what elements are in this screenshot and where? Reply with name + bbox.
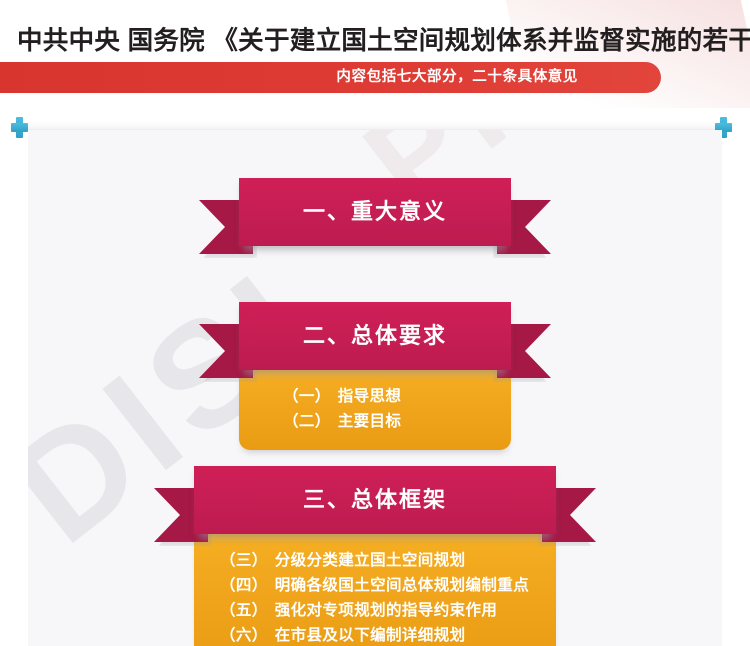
section-3-ribbon[interactable]: 三、总体框架 — [194, 466, 556, 542]
list-item-label: 明确各级国土空间总体规划编制重点 — [275, 573, 529, 598]
cross-decoration-left-icon — [11, 117, 28, 138]
content-panel: DISI PIS 一、重大意义 — [0, 108, 750, 646]
panel-top-rule — [28, 120, 722, 130]
section-1: 一、重大意义 — [28, 178, 722, 254]
list-item-label: 分级分类建立国土空间规划 — [275, 548, 466, 573]
section-1-ribbon[interactable]: 一、重大意义 — [239, 178, 511, 254]
section-2-content-box: （一） 指导思想 （二） 主要目标 — [239, 370, 511, 450]
subtitle-text: 内容包括七大部分，二十条具体意见 — [336, 62, 578, 93]
list-item-label: 指导思想 — [338, 384, 402, 409]
list-item[interactable]: （三） 分级分类建立国土空间规划 — [220, 548, 556, 573]
section-3: 三、总体框架 （三） 分级分类建立国土空间规划 （四） 明确各级国土空间总体规划… — [28, 466, 722, 646]
page-title: 中共中央 国务院 《关于建立国土空间规划体系并监督实施的若干意见》 — [17, 20, 750, 57]
section-3-label: 三、总体框架 — [194, 466, 556, 534]
list-item-number: （一） — [283, 384, 331, 409]
section-2: 二、总体要求 （一） 指导思想 （二） 主要目标 — [28, 302, 722, 450]
section-3-stack: 三、总体框架 （三） 分级分类建立国土空间规划 （四） 明确各级国土空间总体规划… — [194, 466, 556, 646]
list-item-label: 强化对专项规划的指导约束作用 — [275, 598, 498, 623]
section-2-ribbon[interactable]: 二、总体要求 — [239, 302, 511, 378]
section-2-label: 二、总体要求 — [239, 302, 511, 370]
list-item-label: 主要目标 — [338, 409, 402, 434]
list-item[interactable]: （一） 指导思想 — [283, 384, 511, 409]
section-1-stack: 一、重大意义 — [239, 178, 511, 254]
list-item[interactable]: （四） 明确各级国土空间总体规划编制重点 — [220, 573, 556, 598]
list-item-number: （四） — [220, 573, 268, 598]
subtitle-banner: 内容包括七大部分，二十条具体意见 — [0, 62, 661, 93]
list-item-label: 在市县及以下编制详细规划 — [275, 623, 466, 646]
list-item-number: （六） — [220, 623, 268, 646]
list-item-number: （二） — [283, 409, 331, 434]
panel-body: DISI PIS 一、重大意义 — [28, 130, 722, 646]
list-item[interactable]: （二） 主要目标 — [283, 409, 511, 434]
list-item[interactable]: （五） 强化对专项规划的指导约束作用 — [220, 598, 556, 623]
section-1-label: 一、重大意义 — [239, 178, 511, 246]
header: 中共中央 国务院 《关于建立国土空间规划体系并监督实施的若干意见》 内容包括七大… — [0, 0, 750, 108]
section-3-content-box: （三） 分级分类建立国土空间规划 （四） 明确各级国土空间总体规划编制重点 （五… — [194, 534, 556, 646]
section-2-stack: 二、总体要求 （一） 指导思想 （二） 主要目标 — [239, 302, 511, 450]
list-item-number: （三） — [220, 548, 268, 573]
list-item[interactable]: （六） 在市县及以下编制详细规划 — [220, 623, 556, 646]
list-item-number: （五） — [220, 598, 268, 623]
